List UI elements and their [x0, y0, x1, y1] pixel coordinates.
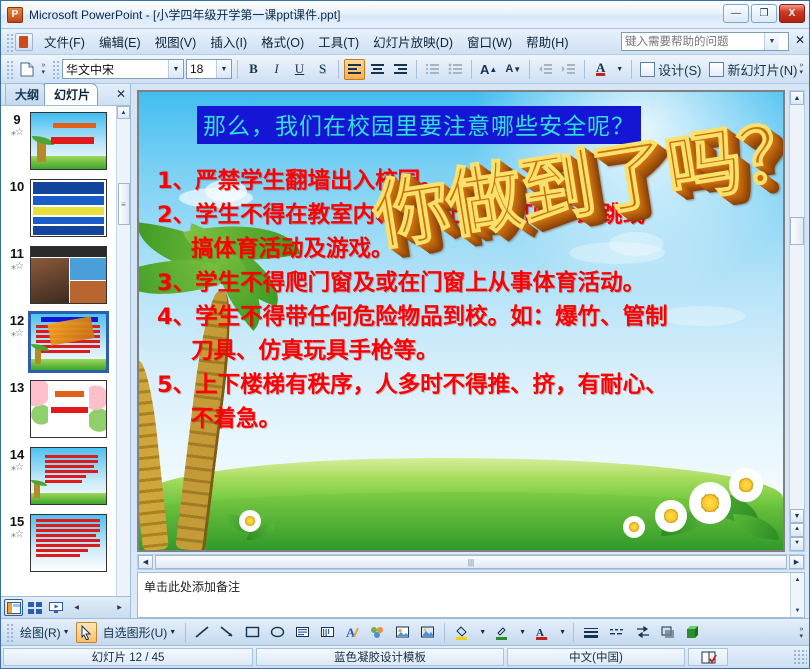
animation-star-icon: ⁎☆ — [4, 529, 30, 540]
shrink-font-label: A — [505, 63, 513, 75]
draw-label: 绘图(R) — [20, 624, 61, 641]
daisy-flower — [689, 482, 731, 524]
list-item[interactable]: 15 ⁎☆ — [1, 514, 116, 572]
menu-help[interactable]: 帮助(H) — [519, 29, 575, 54]
powerpoint-window: P Microsoft PowerPoint - [小学四年级开学第一课ppt课… — [0, 0, 810, 669]
chevron-down-icon[interactable]: ▼ — [555, 622, 568, 643]
title-bar: P Microsoft PowerPoint - [小学四年级开学第一课ppt课… — [1, 1, 809, 29]
thumbnail-number: 12 — [4, 314, 30, 328]
thumbnail-slide-15[interactable] — [30, 514, 107, 572]
scroll-up-button[interactable]: ▲ — [790, 91, 804, 105]
thumbnail-slide-14[interactable] — [30, 447, 107, 505]
animation-star-icon: ⁎☆ — [4, 462, 30, 473]
menu-file[interactable]: 文件(F) — [37, 29, 92, 54]
window-controls: — ❐ X — [723, 4, 805, 23]
document-control-icon[interactable] — [15, 33, 33, 51]
thumbnail-number: 15 — [4, 515, 30, 529]
toolbar-separator — [185, 623, 186, 642]
clip-art-icon[interactable] — [391, 622, 414, 643]
align-right-button[interactable] — [390, 59, 411, 80]
thumbnail-meta: 10 — [4, 179, 30, 194]
thumbnail-slide-12[interactable] — [30, 313, 107, 371]
fill-color-icon[interactable] — [450, 622, 473, 643]
status-design-template: 蓝色凝胶设计模板 — [256, 648, 504, 666]
font-name-combo[interactable]: 华文中宋 ▼ — [62, 59, 184, 79]
thumbnail-number: 14 — [4, 448, 30, 462]
bullets-button[interactable] — [445, 59, 466, 80]
slide-horizontal-scrollbar[interactable]: ◀ ||| ▶ — [137, 554, 805, 570]
scroll-down-button[interactable]: ▼ — [790, 509, 804, 523]
list-item[interactable]: 13 — [1, 380, 116, 438]
line-style-icon[interactable] — [579, 622, 603, 643]
toolbar-separator — [444, 623, 445, 642]
daisy-flower — [655, 500, 687, 532]
thumbnail-meta: 9 ⁎☆ — [4, 112, 30, 138]
font-color-icon[interactable]: A — [530, 622, 553, 643]
text-box-icon[interactable] — [291, 622, 314, 643]
tab-slides[interactable]: 幻灯片 — [44, 83, 98, 105]
list-item[interactable]: 10 — [1, 179, 116, 237]
panel-tab-strip: 大纲 幻灯片 ✕ — [1, 84, 130, 106]
autoshapes-label: 自选图形(U) — [103, 624, 168, 641]
menu-view[interactable]: 视图(V) — [148, 29, 204, 54]
animation-star-icon: ⁎☆ — [4, 328, 30, 339]
thumbnail-meta: 14 ⁎☆ — [4, 447, 30, 473]
restore-button[interactable]: ❐ — [751, 4, 777, 23]
status-language[interactable]: 中文(中国) — [507, 648, 685, 666]
daisy-flower — [239, 510, 261, 532]
panel-scroll-left-button[interactable]: ◀ — [70, 601, 83, 614]
scrollbar-thumb[interactable]: ||| — [155, 555, 787, 569]
slide-vertical-scrollbar[interactable]: ▲ ▼ ⯅ ⯆ — [789, 90, 805, 552]
list-item[interactable]: 12 ⁎☆ — [1, 313, 116, 371]
list-item[interactable]: 14 ⁎☆ — [1, 447, 116, 505]
new-file-icon[interactable] — [16, 59, 37, 80]
menu-insert[interactable]: 插入(I) — [203, 29, 254, 54]
thumbnail-meta: 11 ⁎☆ — [4, 246, 30, 272]
minimize-button[interactable]: — — [723, 4, 749, 23]
align-center-button[interactable] — [367, 59, 388, 80]
toolbar-separator — [237, 60, 238, 79]
autoshapes-menu-button[interactable]: 自选图形(U)▼ — [99, 622, 181, 643]
chevron-down-icon[interactable]: ▼ — [764, 33, 779, 50]
design-icon — [640, 62, 655, 77]
next-slide-button[interactable]: ⯆ — [790, 537, 804, 551]
formatting-toolbar: »▾ 华文中宋 ▼ 18 ▼ B I U S — [1, 55, 809, 84]
slides-panel: 大纲 幻灯片 ✕ 9 ⁎☆ — [1, 84, 131, 618]
thumbnail-number: 10 — [4, 180, 30, 194]
drawing-toolbar: 绘图(R)▼ 自选图形(U)▼ A — [1, 618, 809, 646]
scroll-up-button[interactable]: ▲ — [117, 106, 130, 119]
window-title: Microsoft PowerPoint - [小学四年级开学第一课ppt课件.… — [29, 6, 340, 23]
close-icon[interactable]: ✕ — [795, 33, 805, 47]
toolbar-separator — [416, 60, 417, 79]
menu-drag-grip[interactable] — [5, 32, 13, 52]
arrow-style-icon[interactable] — [631, 622, 655, 643]
bold-button[interactable]: B — [243, 59, 264, 80]
notes-placeholder-text[interactable]: 单击此处添加备注 — [138, 573, 790, 617]
scroll-left-button[interactable]: ◀ — [138, 555, 153, 569]
draw-menu-button[interactable]: 绘图(R)▼ — [16, 622, 74, 643]
status-slide-counter: 幻灯片 12 / 45 — [3, 648, 253, 666]
editing-area: 那么，我们在校园里要注意哪些安全呢？ 1、严禁学生翻墙出入校园。 2、学生不得在… — [131, 84, 809, 618]
menu-slideshow[interactable]: 幻灯片放映(D) — [366, 29, 460, 54]
chevron-down-icon: ▼ — [169, 629, 176, 636]
previous-slide-button[interactable]: ⯅ — [790, 523, 804, 537]
toolbar-separator — [631, 60, 632, 79]
design-button[interactable]: 设计(S) — [637, 59, 704, 80]
list-item[interactable]: 11 ⁎☆ — [1, 246, 116, 304]
toolbar-separator — [529, 60, 530, 79]
decrease-font-size-button[interactable]: A▼ — [502, 59, 524, 80]
scroll-up-button[interactable]: ▲ — [791, 573, 804, 586]
thumbnail-slide-10[interactable] — [30, 179, 107, 237]
decrease-indent-button[interactable] — [535, 59, 556, 80]
list-item[interactable]: 9 ⁎☆ — [1, 112, 116, 170]
rectangle-icon[interactable] — [241, 622, 264, 643]
animation-star-icon: ⁎☆ — [4, 127, 30, 138]
align-left-button[interactable] — [344, 59, 365, 80]
font-color-label: A — [596, 62, 605, 76]
line-icon[interactable] — [191, 622, 214, 643]
increase-indent-button[interactable] — [558, 59, 579, 80]
increase-font-size-button[interactable]: A▲ — [477, 59, 500, 80]
chevron-down-icon[interactable]: ▼ — [515, 622, 528, 643]
slide-canvas[interactable]: 那么，我们在校园里要注意哪些安全呢？ 1、严禁学生翻墙出入校园。 2、学生不得在… — [137, 90, 785, 552]
notes-pane[interactable]: 单击此处添加备注 ▲ ▼ — [137, 572, 805, 618]
menu-window[interactable]: 窗口(W) — [460, 29, 519, 54]
panel-scrollbar[interactable]: ▲ ≡ — [116, 106, 130, 596]
scrollbar-thumb[interactable]: ≡ — [118, 183, 130, 225]
font-color-button[interactable]: A — [590, 59, 611, 80]
thumbnail-number: 13 — [4, 381, 30, 395]
shadow-style-icon[interactable] — [657, 622, 680, 643]
new-slide-icon — [709, 62, 724, 77]
resize-grip-icon[interactable] — [793, 649, 807, 665]
picture-icon[interactable] — [416, 622, 439, 643]
help-search-input[interactable] — [622, 34, 764, 50]
toolbar-separator — [338, 60, 339, 79]
bullet-line-5: 4、学生不得带任何危险物品到校。如：爆竹、管制 — [157, 300, 769, 334]
scroll-down-button[interactable]: ▼ — [791, 604, 804, 617]
slide-sorter-view-button[interactable] — [25, 599, 44, 616]
text-shadow-button[interactable]: S — [312, 59, 333, 80]
oval-icon[interactable] — [266, 622, 289, 643]
toolbar-separator — [471, 60, 472, 79]
menu-edit[interactable]: 编辑(E) — [92, 29, 148, 54]
toolbar-drag-grip-1[interactable] — [5, 59, 13, 79]
thumbnail-meta: 12 ⁎☆ — [4, 313, 30, 339]
thumbnail-slide-11[interactable] — [30, 246, 107, 304]
chevron-down-icon[interactable]: ▼ — [613, 59, 626, 80]
thumbnail-meta: 15 ⁎☆ — [4, 514, 30, 540]
chevron-down-icon[interactable]: ▼ — [168, 60, 183, 78]
daisy-core — [629, 522, 639, 532]
wordart-icon[interactable]: A — [341, 622, 364, 643]
menu-bar: 文件(F) 编辑(E) 视图(V) 插入(I) 格式(O) 工具(T) 幻灯片放… — [1, 29, 809, 55]
daisy-flower — [623, 516, 645, 538]
thumbnail-scroll-area: 9 ⁎☆ — [1, 106, 130, 596]
bullet-line-7: 5、上下楼梯有秩序，人多时不得推、挤，有耐心、 — [157, 368, 769, 402]
font-size-value: 18 — [187, 62, 206, 76]
daisy-flower — [729, 468, 763, 502]
bullet-line-6: 刀具、仿真玩具手枪等。 — [157, 334, 769, 368]
close-button[interactable]: X — [779, 4, 805, 23]
italic-button[interactable]: I — [266, 59, 287, 80]
powerpoint-app-icon: P — [7, 7, 23, 23]
bullet-line-8: 不着急。 — [157, 402, 769, 436]
underline-button[interactable]: U — [289, 59, 310, 80]
help-search-box[interactable]: ▼ — [621, 32, 789, 51]
numbering-button[interactable] — [422, 59, 443, 80]
thumbnail-meta: 13 — [4, 380, 30, 395]
bullet-line-4: 3、学生不得爬门窗及或在门窗上从事体育活动。 — [157, 266, 769, 300]
status-spellcheck[interactable] — [688, 648, 728, 666]
workspace: 大纲 幻灯片 ✕ 9 ⁎☆ — [1, 84, 809, 618]
slideshow-view-button[interactable] — [46, 599, 65, 616]
scrollbar-track[interactable]: ||| — [153, 555, 789, 569]
scrollbar-grip-icon: ||| — [468, 558, 474, 567]
font-name-value: 华文中宋 — [63, 61, 117, 78]
daisy-core — [664, 509, 678, 523]
panel-scroll-right-button[interactable]: ▶ — [113, 601, 126, 614]
3d-style-icon[interactable] — [682, 622, 705, 643]
scrollbar-thumb[interactable] — [790, 217, 804, 245]
toolbar-separator — [573, 623, 574, 642]
thumbnail-slide-9[interactable] — [30, 112, 107, 170]
design-label: 设计(S) — [658, 60, 701, 79]
vertical-text-box-icon[interactable] — [316, 622, 339, 643]
toolbar-drag-grip-2[interactable] — [51, 59, 59, 79]
drawing-toolbar-overflow[interactable]: »▾ — [796, 622, 807, 644]
slide-view: 那么，我们在校园里要注意哪些安全呢？ 1、严禁学生翻墙出入校园。 2、学生不得在… — [131, 84, 809, 552]
toolbar-drag-grip-3[interactable] — [5, 622, 13, 642]
thumbnail-list[interactable]: 9 ⁎☆ — [1, 106, 116, 596]
new-slide-label: 新幻灯片(N) — [727, 60, 797, 79]
menu-format[interactable]: 格式(O) — [254, 29, 311, 54]
menu-tools[interactable]: 工具(T) — [311, 29, 366, 54]
scrollbar-grip-icon: ≡ — [121, 203, 126, 206]
toolbar-overflow-1[interactable]: »▾ — [38, 58, 49, 80]
font-size-combo[interactable]: 18 ▼ — [186, 59, 232, 79]
tab-outline[interactable]: 大纲 — [5, 83, 47, 105]
diagram-icon[interactable] — [366, 622, 389, 643]
toolbar-overflow-2[interactable]: »▾ — [796, 58, 807, 80]
grow-font-label: A — [480, 62, 489, 77]
thumbnail-number: 11 — [4, 247, 30, 261]
animation-star-icon: ⁎☆ — [4, 261, 30, 272]
thumbnail-number: 9 — [4, 113, 30, 127]
dash-style-icon[interactable] — [605, 622, 629, 643]
close-panel-icon[interactable]: ✕ — [116, 87, 126, 101]
new-slide-button[interactable]: 新幻灯片(N) — [706, 59, 800, 80]
chevron-down-icon[interactable]: ▼ — [475, 622, 488, 643]
chevron-down-icon: ▼ — [63, 629, 70, 636]
daisy-core — [245, 516, 255, 526]
status-bar: 幻灯片 12 / 45 蓝色凝胶设计模板 中文(中国) — [1, 646, 809, 668]
scroll-right-button[interactable]: ▶ — [789, 555, 804, 569]
view-buttons-bar: ◀ ▶ — [1, 596, 130, 618]
select-objects-button[interactable] — [76, 622, 97, 643]
arrow-icon[interactable] — [216, 622, 239, 643]
thumbnail-slide-13[interactable] — [30, 380, 107, 438]
chevron-down-icon[interactable]: ▼ — [216, 60, 231, 78]
line-color-icon[interactable] — [490, 622, 513, 643]
slide-title-text[interactable]: 那么，我们在校园里要注意哪些安全呢？ — [197, 106, 641, 144]
normal-view-button[interactable] — [4, 599, 23, 616]
notes-scrollbar[interactable]: ▲ ▼ — [790, 573, 804, 617]
toolbar-separator — [584, 60, 585, 79]
